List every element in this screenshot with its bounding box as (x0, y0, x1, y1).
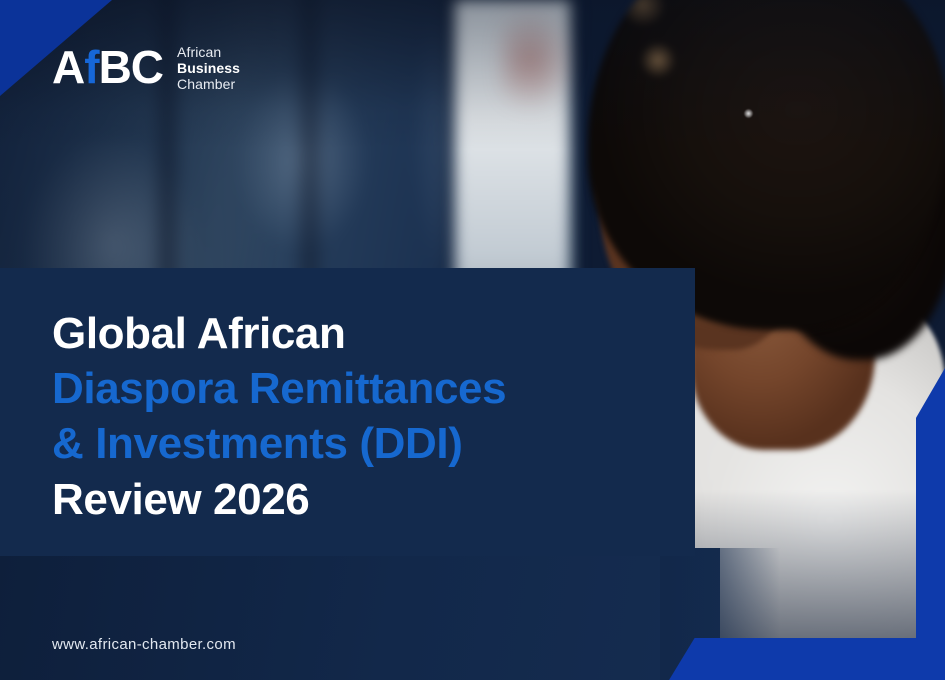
logo-word-chamber: Chamber (177, 76, 240, 92)
footer-band (0, 548, 720, 680)
afbc-logo[interactable]: AfBC African Business Chamber (52, 42, 240, 93)
title-line-3: & Investments (DDI) (52, 416, 655, 471)
logo-mark-icon: AfBC (52, 44, 163, 90)
logo-mark-f: f (84, 41, 98, 93)
title-line-4: Review 2026 (52, 472, 655, 527)
title-panel: Global African Diaspora Remittances & In… (0, 268, 695, 556)
title-line-2: Diaspora Remittances (52, 361, 655, 416)
logo-wordmark: African Business Chamber (177, 42, 240, 93)
website-url[interactable]: www.african-chamber.com (52, 636, 236, 653)
logo-word-business: Business (177, 60, 240, 76)
report-cover: AfBC African Business Chamber Global Afr… (0, 0, 945, 680)
logo-mark-a: A (52, 41, 84, 93)
title-line-1: Global African (52, 306, 655, 361)
logo-word-african: African (177, 44, 240, 60)
logo-mark-bc: BC (99, 41, 163, 93)
corner-bar-right-icon (916, 368, 945, 680)
